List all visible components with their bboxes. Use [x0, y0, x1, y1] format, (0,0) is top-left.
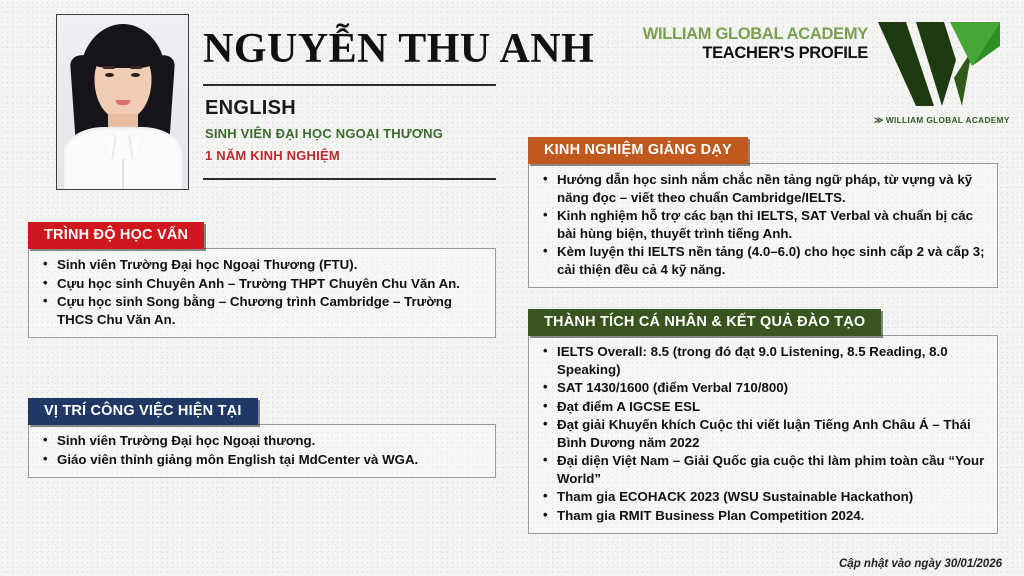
list-item: Sinh viên Trường Đại học Ngoại thương. — [57, 432, 485, 450]
list-item: Giáo viên thỉnh giảng môn English tại Md… — [57, 451, 485, 469]
list-item: Đại diện Việt Nam – Giải Quốc gia cuộc t… — [557, 452, 987, 487]
list-item: Đạt giải Khuyến khích Cuộc thi viết luận… — [557, 416, 987, 451]
logo-caption: ≫WILLIAM GLOBAL ACADEMY — [874, 115, 1004, 126]
profile-page: NGUYỄN THU ANH ENGLISH SINH VIÊN ĐẠI HỌC… — [0, 0, 1024, 576]
photo-fringe — [85, 38, 161, 68]
section-current-position: VỊ TRÍ CÔNG VIỆC HIỆN TẠI Sinh viên Trườ… — [28, 398, 496, 478]
teacher-school: SINH VIÊN ĐẠI HỌC NGOẠI THƯƠNG — [205, 126, 443, 141]
teacher-experience-years: 1 NĂM KINH NGHIỆM — [205, 148, 340, 163]
section-current-position-body: Sinh viên Trường Đại học Ngoại thương. G… — [28, 424, 496, 478]
list-item: Hướng dẫn học sinh nắm chắc nền tảng ngữ… — [557, 171, 987, 206]
section-achievements-title: THÀNH TÍCH CÁ NHÂN & KẾT QUẢ ĐÀO TẠO — [528, 309, 881, 336]
teacher-portrait-photo — [56, 14, 189, 190]
section-education-body: Sinh viên Trường Đại học Ngoại Thương (F… — [28, 248, 496, 338]
photo-brow-left — [103, 66, 115, 69]
brand-subtitle: TEACHER'S PROFILE — [702, 44, 868, 63]
list-item: Kinh nghiệm hỗ trợ các bạn thi IELTS, SA… — [557, 207, 987, 242]
section-achievements-body: IELTS Overall: 8.5 (trong đó đạt 9.0 Lis… — [528, 335, 998, 534]
brand-name: WILLIAM GLOBAL ACADEMY — [643, 25, 868, 44]
section-education-title: TRÌNH ĐỘ HỌC VẤN — [28, 222, 204, 249]
list-item: IELTS Overall: 8.5 (trong đó đạt 9.0 Lis… — [557, 343, 987, 378]
section-education: TRÌNH ĐỘ HỌC VẤN Sinh viên Trường Đại họ… — [28, 222, 496, 338]
list-item: Đạt điểm A IGCSE ESL — [557, 398, 987, 416]
section-achievements: THÀNH TÍCH CÁ NHÂN & KẾT QUẢ ĐÀO TẠO IEL… — [528, 309, 998, 534]
photo-eye-left — [105, 73, 114, 77]
william-global-academy-logo-icon — [876, 20, 1002, 112]
photo-brow-right — [130, 66, 142, 69]
list-item: Tham gia ECOHACK 2023 (WSU Sustainable H… — [557, 488, 987, 506]
section-teaching-experience-title: KINH NGHIỆM GIẢNG DẠY — [528, 137, 748, 164]
photo-eye-right — [131, 73, 140, 77]
list-item: SAT 1430/1600 (điểm Verbal 710/800) — [557, 379, 987, 397]
photo-shirt-placket — [122, 159, 124, 189]
last-updated-note: Cập nhật vào ngày 30/01/2026 — [839, 558, 1002, 570]
name-divider-top — [203, 84, 496, 86]
section-current-position-title: VỊ TRÍ CÔNG VIỆC HIỆN TẠI — [28, 398, 258, 425]
list-item: Kèm luyện thi IELTS nền tảng (4.0–6.0) c… — [557, 243, 987, 278]
experience-list: Hướng dẫn học sinh nắm chắc nền tảng ngữ… — [535, 171, 987, 278]
achievements-list: IELTS Overall: 8.5 (trong đó đạt 9.0 Lis… — [535, 343, 987, 524]
list-item: Cựu học sinh Chuyên Anh – Trường THPT Ch… — [57, 275, 485, 293]
list-item: Cựu học sinh Song bằng – Chương trình Ca… — [57, 293, 485, 328]
teaching-subject: ENGLISH — [205, 97, 296, 120]
list-item: Sinh viên Trường Đại học Ngoại Thương (F… — [57, 256, 485, 274]
logo-caption-text: WILLIAM GLOBAL ACADEMY — [886, 116, 1010, 125]
section-teaching-experience: KINH NGHIỆM GIẢNG DẠY Hướng dẫn học sinh… — [528, 137, 998, 288]
double-chevron-icon: ≫ — [874, 115, 884, 125]
name-divider-bottom — [203, 178, 496, 180]
teacher-name: NGUYỄN THU ANH — [203, 25, 594, 73]
position-list: Sinh viên Trường Đại học Ngoại thương. G… — [35, 432, 485, 468]
section-teaching-experience-body: Hướng dẫn học sinh nắm chắc nền tảng ngữ… — [528, 163, 998, 288]
education-list: Sinh viên Trường Đại học Ngoại Thương (F… — [35, 256, 485, 328]
list-item: Tham gia RMIT Business Plan Competition … — [557, 507, 987, 525]
